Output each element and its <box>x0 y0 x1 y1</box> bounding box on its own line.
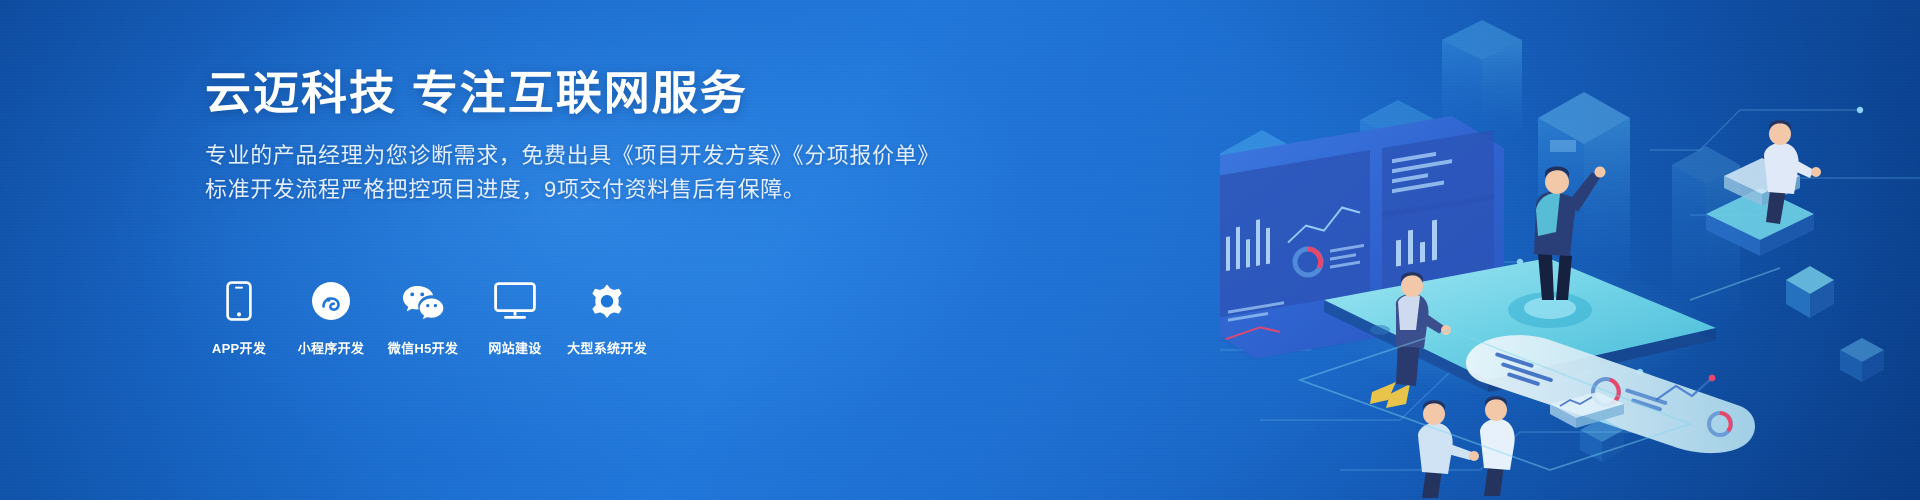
person-group-bottom <box>1418 396 1515 498</box>
service-label: 大型系统开发 <box>567 338 647 357</box>
service-item-wechat-h5[interactable]: 微信H5开发 <box>387 278 459 357</box>
service-icon-row: APP开发 小程序开发 <box>203 278 643 357</box>
hero-copy: 云迈科技 专注互联网服务 专业的产品经理为您诊断需求，免费出具《项目开发方案》《… <box>205 66 925 207</box>
gear-icon <box>587 278 627 324</box>
monitor-icon <box>494 278 536 324</box>
subtitle-line-2: 标准开发流程严格把控项目进度，9项交付资料售后有保障。 <box>205 173 925 207</box>
illustration-panel <box>1220 0 1920 500</box>
service-item-mini-program[interactable]: 小程序开发 <box>295 278 367 357</box>
service-item-app[interactable]: APP开发 <box>203 278 275 357</box>
mobile-phone-icon <box>226 278 252 324</box>
hero-subtitle: 专业的产品经理为您诊断需求，免费出具《项目开发方案》《分项报价单》 标准开发流程… <box>205 139 925 207</box>
service-label: 网站建设 <box>488 338 541 357</box>
service-item-website[interactable]: 网站建设 <box>479 278 551 357</box>
service-label: 微信H5开发 <box>388 338 458 357</box>
page-title: 云迈科技 专注互联网服务 <box>205 66 925 120</box>
mini-program-icon <box>311 278 351 324</box>
wechat-icon <box>400 278 446 324</box>
service-label: APP开发 <box>212 338 266 357</box>
service-label: 小程序开发 <box>298 338 365 357</box>
service-item-large-system[interactable]: 大型系统开发 <box>571 278 643 357</box>
isometric-tech-illustration <box>1220 0 1920 500</box>
hero-banner: 云迈科技 专注互联网服务 专业的产品经理为您诊断需求，免费出具《项目开发方案》《… <box>0 0 1920 500</box>
subtitle-line-1: 专业的产品经理为您诊断需求，免费出具《项目开发方案》《分项报价单》 <box>205 139 925 173</box>
